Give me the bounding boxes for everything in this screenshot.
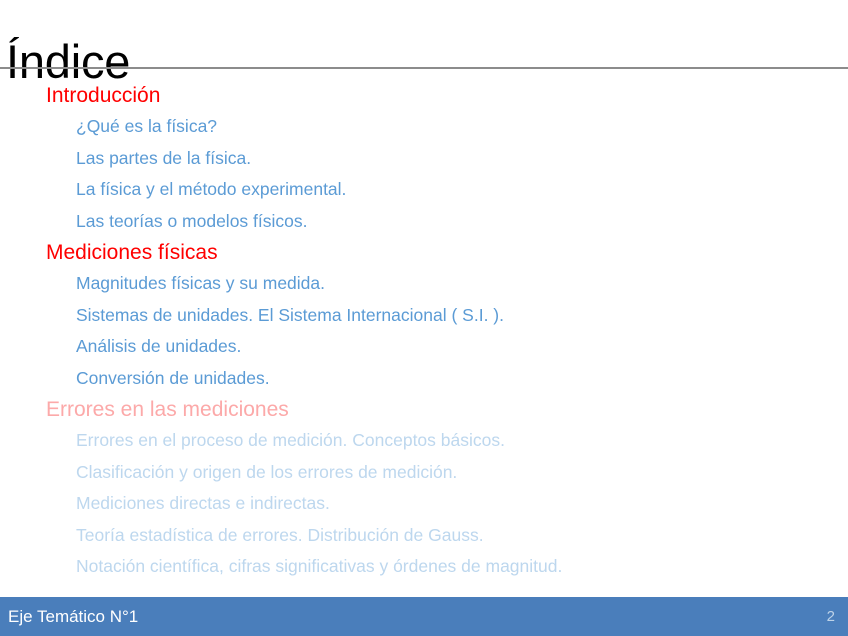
outline-list: Introducción¿Qué es la física?Las partes… (0, 80, 848, 583)
outline-section-heading: Introducción (0, 80, 848, 111)
outline-sub-item: Teoría estadística de errores. Distribuc… (0, 520, 848, 552)
outline-sub-item: ¿Qué es la física? (0, 111, 848, 143)
outline-section: Introducción¿Qué es la física?Las partes… (0, 80, 848, 237)
outline-sub-item: Las teorías o modelos físicos. (0, 206, 848, 238)
outline-section: Mediciones físicasMagnitudes físicas y s… (0, 237, 848, 394)
outline-sub-item: Mediciones directas e indirectas. (0, 488, 848, 520)
outline-sub-item: Las partes de la física. (0, 143, 848, 175)
outline-sub-item: La física y el método experimental. (0, 174, 848, 206)
page-number: 2 (827, 607, 835, 627)
outline-sub-item: Clasificación y origen de los errores de… (0, 457, 848, 489)
title-divider (0, 67, 848, 69)
footer-bar: Eje Temático N°1 2 (0, 597, 848, 636)
outline-section-heading: Mediciones físicas (0, 237, 848, 268)
outline-section-heading: Errores en las mediciones (0, 394, 848, 425)
outline-sub-item: Análisis de unidades. (0, 331, 848, 363)
outline-sub-item: Sistemas de unidades. El Sistema Interna… (0, 300, 848, 332)
outline-sub-item: Magnitudes físicas y su medida. (0, 268, 848, 300)
footer-label: Eje Temático N°1 (8, 605, 138, 628)
outline-section: Errores en las medicionesErrores en el p… (0, 394, 848, 583)
outline-sub-item: Conversión de unidades. (0, 363, 848, 395)
outline-sub-item: Notación científica, cifras significativ… (0, 551, 848, 583)
outline-sub-item: Errores en el proceso de medición. Conce… (0, 425, 848, 457)
